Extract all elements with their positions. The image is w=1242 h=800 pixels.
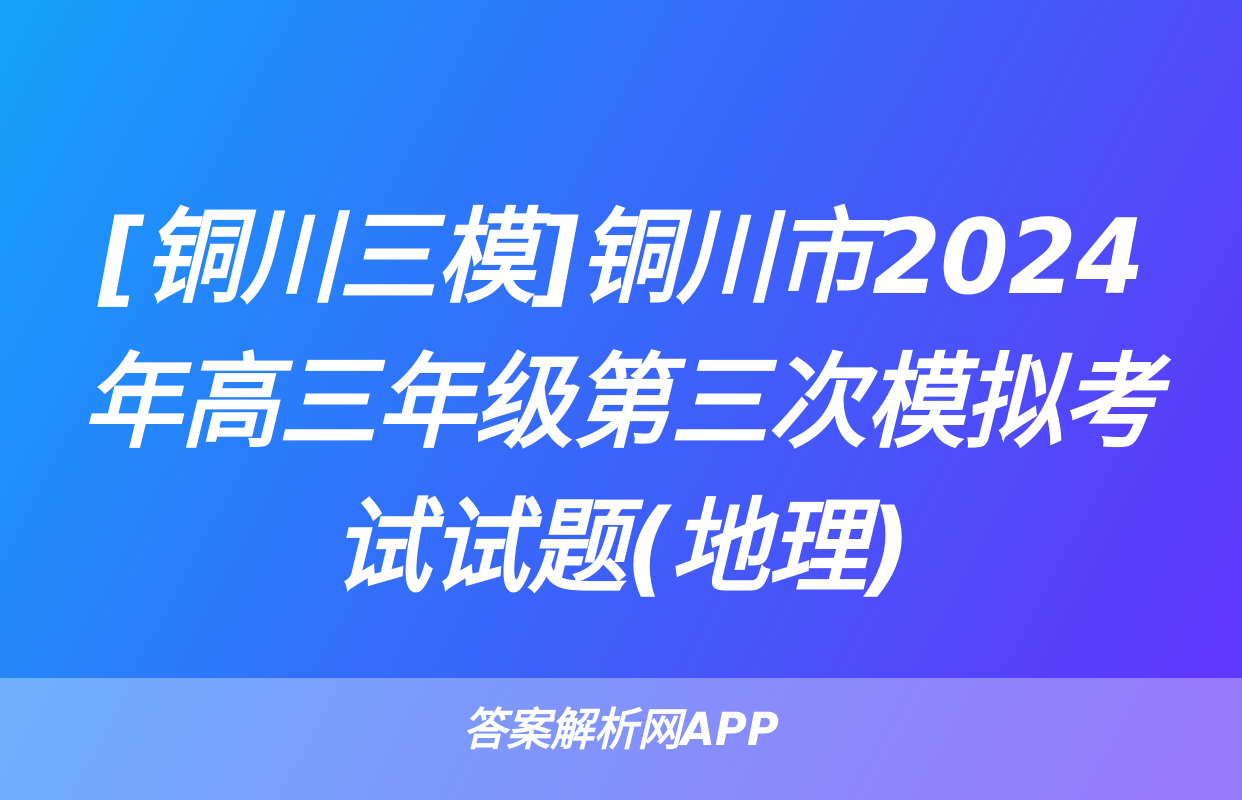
poster-title: [铜川三模]铜川市2024 年高三年级第三次模拟考 试试题(地理) [0,186,1242,621]
title-line-2: 年高三年级第三次模拟考 [50,331,1192,476]
title-line-3: 试试题(地理) [50,476,1192,621]
watermark-label: 答案解析网APP [463,703,779,757]
poster-canvas: [铜川三模]铜川市2024 年高三年级第三次模拟考 试试题(地理) 答案解析网A… [0,0,1242,800]
watermark: 答案解析网APP [0,703,1242,757]
title-line-1: [铜川三模]铜川市2024 [50,186,1192,331]
